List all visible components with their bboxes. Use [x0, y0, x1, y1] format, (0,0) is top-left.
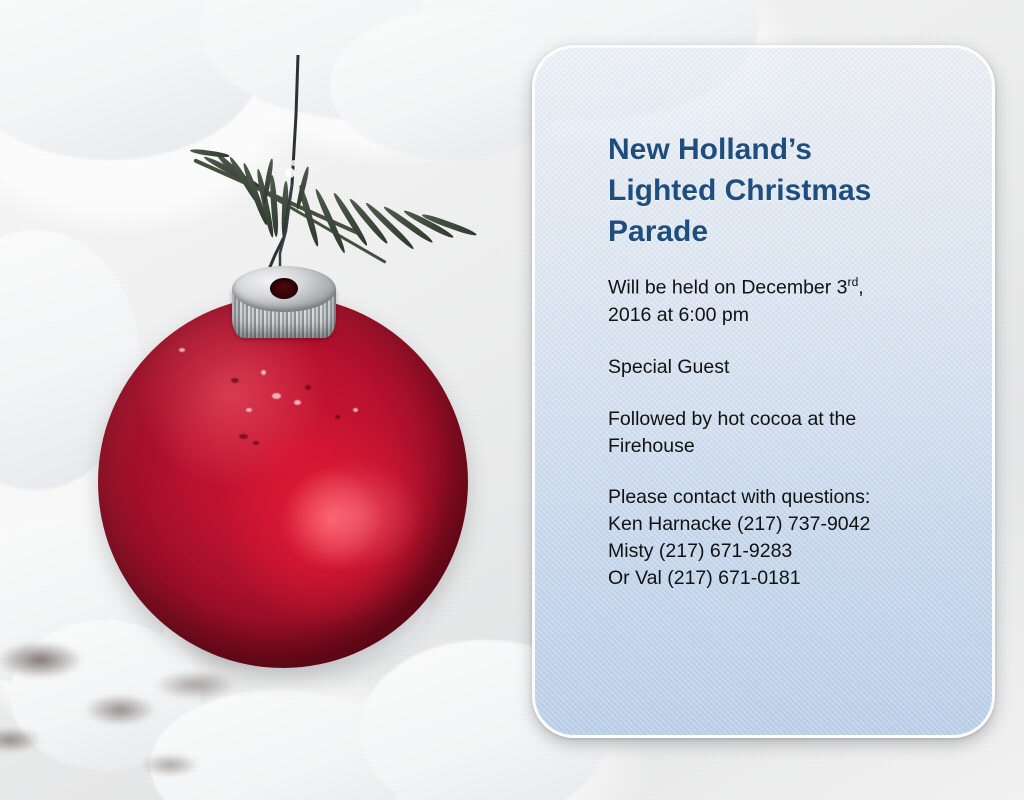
contact-block: Please contact with questions: Ken Harna…	[608, 484, 938, 592]
snow-speck	[246, 408, 252, 412]
ornament-blemish	[231, 378, 239, 383]
red-glass-ball-ornament	[98, 296, 468, 668]
ornament-ball-body	[98, 296, 468, 668]
snow-speck	[353, 408, 358, 412]
cocoa-line-2: Firehouse	[608, 435, 695, 457]
title-line-3: Parade	[608, 215, 708, 248]
page-title: New Holland’s Lighted Christmas Parade	[608, 130, 918, 252]
cocoa-line-1: Followed by hot cocoa at the	[608, 408, 856, 430]
contact-misty: Misty (217) 671-9283	[608, 538, 938, 565]
snow-covered-pine-branch	[160, 50, 500, 265]
contact-heading: Please contact with questions:	[608, 484, 938, 511]
date-prefix: Will be held on December 3	[608, 277, 848, 299]
contact-ken: Ken Harnacke (217) 737-9042	[608, 511, 938, 538]
cap-center-hole	[270, 278, 298, 299]
title-line-1: New Holland’s	[608, 133, 812, 166]
snow-speck	[272, 393, 281, 399]
ornament-highlight	[290, 460, 423, 572]
ornament-blemish	[239, 434, 248, 439]
panel-content: New Holland’s Lighted Christmas Parade W…	[535, 48, 992, 592]
title-line-2: Lighted Christmas	[608, 174, 871, 207]
contact-val: Or Val (217) 671-0181	[608, 565, 938, 592]
special-guest-text: Special Guest	[608, 354, 938, 381]
date-line-2: 2016 at 6:00 pm	[608, 304, 749, 326]
date-comma: ,	[858, 277, 863, 299]
info-panel: New Holland’s Lighted Christmas Parade W…	[532, 45, 995, 738]
cocoa-text: Followed by hot cocoa at the Firehouse	[608, 406, 938, 460]
event-date-text: Will be held on December 3rd, 2016 at 6:…	[608, 274, 938, 328]
ornament-blemish	[335, 415, 340, 419]
date-ordinal-suffix: rd	[848, 275, 859, 289]
slide-canvas: New Holland’s Lighted Christmas Parade W…	[0, 0, 1024, 800]
silver-ornament-cap	[232, 258, 336, 340]
